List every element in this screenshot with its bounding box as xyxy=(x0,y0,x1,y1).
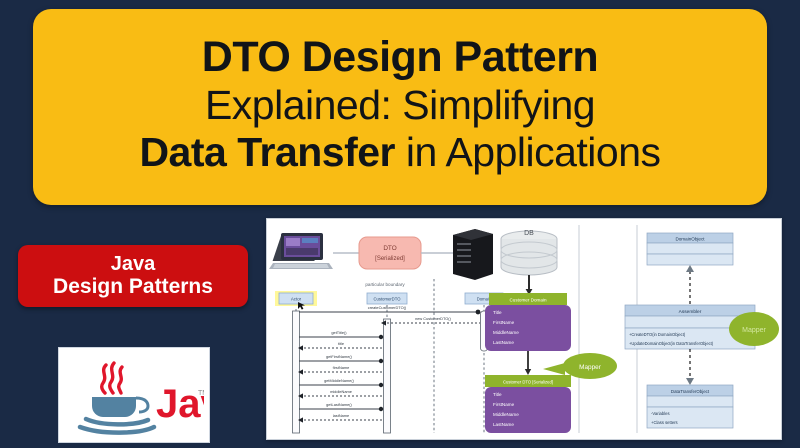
java-logo-card: Java TM xyxy=(58,347,210,443)
uml-dto-operation-1: +Class setters xyxy=(651,420,678,425)
database-cylinder-icon: DB xyxy=(501,230,557,275)
category-badge-line-1: Java xyxy=(111,254,156,275)
customer-dto-header: Customer DTO [Serialized] xyxy=(503,380,553,385)
customer-domain-field-1: FirstName xyxy=(493,320,515,325)
java-wordmark: Java xyxy=(156,382,204,426)
mapper-label-domain: Mapper xyxy=(579,364,602,371)
sequence-boundary-note: particular boundary xyxy=(365,282,405,287)
java-trademark: TM xyxy=(198,390,204,397)
dto-box-line-1: DTO xyxy=(383,245,396,252)
uml-generalization-assembler-dto xyxy=(686,349,694,385)
dto-pattern-diagram-card: DTO [Serialized] DB particular boundary … xyxy=(266,218,782,440)
sequence-message-5: firstName xyxy=(298,365,382,375)
title-banner: DTO Design Pattern Explained: Simplifyin… xyxy=(33,9,767,205)
category-badge: Java Design Patterns xyxy=(18,245,248,307)
title-line-3-rest: in Applications xyxy=(395,129,661,175)
customer-domain-field-3: LastName xyxy=(493,340,514,345)
uml-dto-title: DataTransferObject xyxy=(671,389,710,394)
uml-assembler-operation-0: +CreateDTO(in DomainObject) xyxy=(629,332,686,337)
sequence-message-label-8: getLastName() xyxy=(326,402,352,407)
mapper-callout-assembler: Mapper xyxy=(729,312,779,346)
uml-assembler-title: Assembler xyxy=(679,309,702,315)
lifeline-head-actor[interactable]: Actor xyxy=(275,291,317,310)
lifeline-head-customer-dto[interactable]: CustomerDTO xyxy=(367,293,407,304)
sequence-message-9: lastName xyxy=(298,413,382,423)
lifeline-label-customer-dto: CustomerDTO xyxy=(374,297,402,302)
category-badge-line-2: Design Patterns xyxy=(53,275,213,298)
dto-box-line-2: [Serialized] xyxy=(375,256,405,262)
uml-domain-object-title: DomainObject xyxy=(675,236,705,241)
customer-domain-field-0: Title xyxy=(493,310,502,315)
sequence-message-6: getMiddleName() xyxy=(299,378,383,387)
uml-data-transfer-object-class: DataTransferObject -Variables +Class set… xyxy=(647,385,733,428)
sequence-message-label-6: getMiddleName() xyxy=(324,378,355,383)
dto-pattern-diagram: DTO [Serialized] DB particular boundary … xyxy=(267,219,781,439)
sequence-message-label-9: lastName xyxy=(333,413,349,418)
mapper-label-assembler: Mapper xyxy=(742,327,766,334)
sequence-message-label-2: getTitle() xyxy=(331,330,347,335)
customer-domain-class: Customer Domain Title FirstName MiddleNa… xyxy=(485,293,571,351)
dto-serialized-box: DTO [Serialized] xyxy=(359,237,421,269)
sequence-message-label-7: middleName xyxy=(330,389,352,394)
db-label: DB xyxy=(524,230,534,237)
java-coffee-cup-icon: Java TM xyxy=(64,355,204,435)
title-line-2: Explained: Simplifying xyxy=(43,85,757,127)
sequence-message-8: getLastName() xyxy=(299,402,383,411)
title-line-3: Data Transfer in Applications xyxy=(43,132,757,174)
sequence-message-3: title xyxy=(298,341,382,351)
title-line-1: DTO Design Pattern xyxy=(43,36,757,80)
sequence-message-2: getTitle() xyxy=(299,330,383,339)
sequence-message-label-3: title xyxy=(338,341,344,346)
customer-dto-field-0: Title xyxy=(493,392,502,397)
uml-domain-object-class: DomainObject xyxy=(647,233,733,265)
sequence-message-label-0: createCustomerDTO() xyxy=(368,305,407,310)
uml-dto-operation-0: -Variables xyxy=(651,411,670,416)
customer-domain-header: Customer Domain xyxy=(509,298,546,303)
sequence-message-0: createCustomerDTO() xyxy=(299,305,480,314)
arrowhead-domain-dto xyxy=(525,369,531,375)
sequence-message-7: middleName xyxy=(298,389,382,399)
laptop-icon xyxy=(269,233,333,269)
lifeline-label-actor: Actor xyxy=(291,297,302,302)
customer-dto-field-1: FirstName xyxy=(493,402,515,407)
uml-assembler-operation-1: +UpdateDomainObject(in DataTransferObjec… xyxy=(629,341,714,346)
sequence-message-1: new CustomerDTO() xyxy=(381,316,480,326)
sequence-message-label-4: getFirstName() xyxy=(326,354,353,359)
server-rack-icon xyxy=(453,229,493,280)
customer-dto-class: Customer DTO [Serialized] Title FirstNam… xyxy=(485,375,571,433)
sequence-message-label-1: new CustomerDTO() xyxy=(415,316,452,321)
customer-domain-field-2: MiddleName xyxy=(493,330,519,335)
uml-generalization-domain-assembler xyxy=(686,265,694,305)
title-line-3-emphasis: Data Transfer xyxy=(139,129,395,175)
customer-dto-field-2: MiddleName xyxy=(493,412,519,417)
customer-dto-field-3: LastName xyxy=(493,422,514,427)
sequence-message-4: getFirstName() xyxy=(299,354,383,363)
sequence-message-label-5: firstName xyxy=(333,365,350,370)
